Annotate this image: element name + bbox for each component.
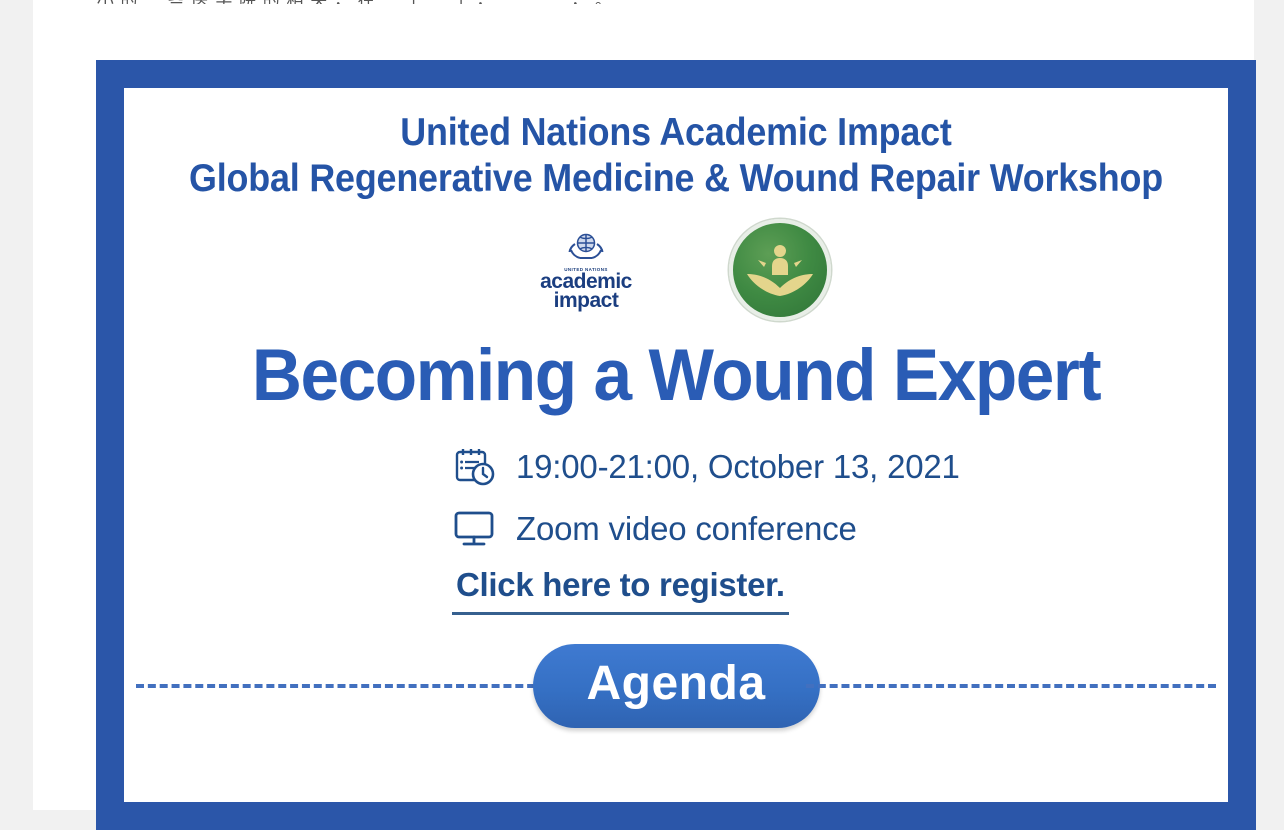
logo-row: UNITED NATIONS academic impact (124, 220, 1228, 320)
event-details: 19:00-21:00, October 13, 2021 Zoom vi (124, 436, 1228, 560)
header-title-line-1: United Nations Academic Impact (168, 110, 1184, 156)
flyer-header: United Nations Academic Impact Global Re… (124, 88, 1228, 202)
header-title-line-2: Global Regenerative Medicine & Wound Rep… (168, 156, 1184, 202)
detail-row-datetime: 19:00-21:00, October 13, 2021 (452, 436, 1228, 498)
detail-row-location: Zoom video conference (452, 498, 1228, 560)
agenda-badge[interactable]: Agenda (533, 644, 820, 728)
calendar-clock-icon (452, 445, 498, 489)
agenda-divider-row: Agenda (124, 641, 1228, 731)
flyer-inner-area: United Nations Academic Impact Global Re… (124, 88, 1228, 802)
green-medical-seal-icon (729, 219, 831, 321)
detail-text-datetime: 19:00-21:00, October 13, 2021 (516, 448, 960, 486)
un-emblem-icon (565, 230, 607, 265)
register-wrap: Click here to register. (124, 566, 1228, 615)
dashed-line-right (806, 684, 1217, 688)
register-link[interactable]: Click here to register. (452, 566, 789, 615)
dashed-line-left (136, 684, 547, 688)
un-logo-word-impact: impact (554, 291, 619, 310)
screen: 一 小 的 一 些 医 学 院 的 相 关 ， 在 一 个 一 个 ， 一 一 … (0, 0, 1284, 810)
document-page: 一 小 的 一 些 医 学 院 的 相 关 ， 在 一 个 一 个 ， 一 一 … (33, 0, 1254, 810)
monitor-icon (452, 507, 498, 551)
event-title: Becoming a Wound Expert (152, 336, 1201, 416)
detail-text-location: Zoom video conference (516, 510, 857, 548)
un-academic-impact-logo: UNITED NATIONS academic impact (521, 230, 651, 310)
workshop-flyer: United Nations Academic Impact Global Re… (96, 60, 1256, 830)
clipped-top-text: 一 小 的 一 些 医 学 院 的 相 关 ， 在 一 个 一 个 ， 一 一 … (33, 0, 1254, 4)
